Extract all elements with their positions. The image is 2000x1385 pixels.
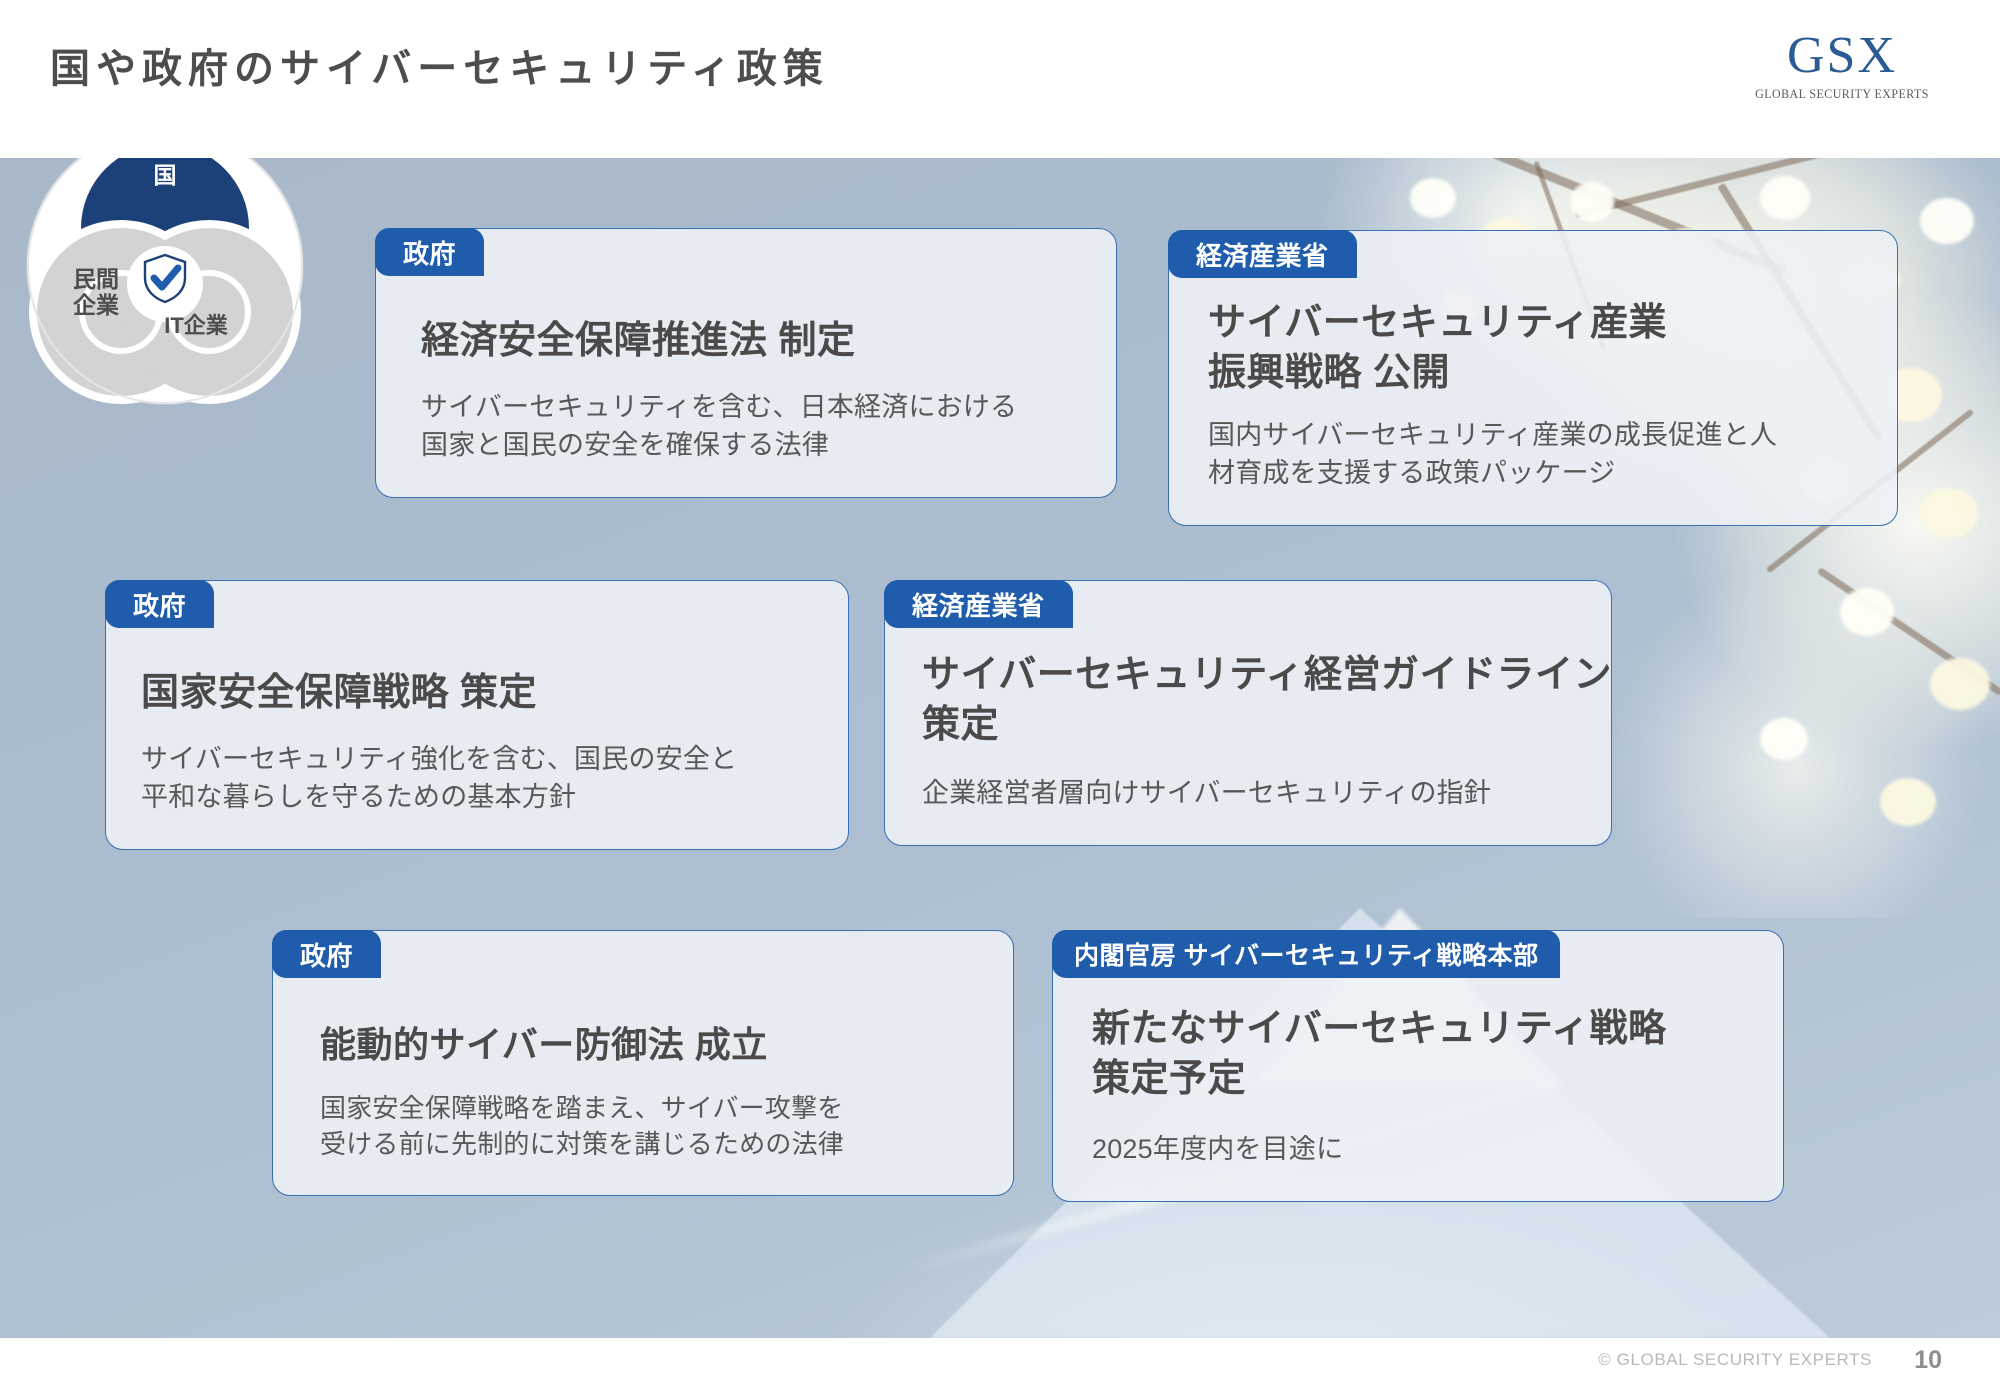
blossom-petal [1570,182,1614,222]
gsx-wordmark: GSX [1742,30,1942,82]
shield-check-icon [141,252,189,304]
card-description: 2025年度内を目途に [1092,1130,1784,1168]
policy-card[interactable]: 政府 能動的サイバー防御法 成立 国家安全保障戦略を踏まえ、サイバー攻撃を 受け… [272,930,1014,1196]
card-title: サイバーセキュリティ産業 振興戦略 公開 [1208,298,1898,398]
venn-label-private-companies: 民間 企業 [51,266,141,318]
blossom-petal [1760,176,1810,220]
venn-label-it-companies: IT企業 [141,313,251,339]
page-number: 10 [1914,1346,1942,1375]
copyright-text: © GLOBAL SECURITY EXPERTS [1598,1350,1872,1370]
slide-footer: © GLOBAL SECURITY EXPERTS 10 [0,1338,2000,1385]
card-content: 新たなサイバーセキュリティ戦略 策定予定 2025年度内を目途に [1052,978,1784,1202]
venn-label-nation: 国 [123,162,207,188]
policy-card[interactable]: 政府 国家安全保障戦略 策定 サイバーセキュリティ強化を含む、国民の安全と 平和… [105,580,849,850]
card-content: サイバーセキュリティ経営ガイドライン 策定 企業経営者層向けサイバーセキュリティ… [884,628,1612,846]
blossom-petal [1920,488,1978,538]
slide: 国や政府のサイバーセキュリティ政策 GSX GLOBAL SECURITY EX… [0,0,2000,1385]
card-title: 新たなサイバーセキュリティ戦略 策定予定 [1092,1004,1784,1104]
blossom-petal [1880,778,1936,826]
policy-card[interactable]: 経済産業省 サイバーセキュリティ経営ガイドライン 策定 企業経営者層向けサイバー… [884,580,1612,846]
gsx-tagline: GLOBAL SECURITY EXPERTS [1750,86,1934,102]
card-tab-label: 政府 [272,930,381,978]
blossom-petal [1930,658,1990,710]
card-title: 経済安全保障推進法 制定 [421,316,1117,366]
policy-card[interactable]: 内閣官房 サイバーセキュリティ戦略本部 新たなサイバーセキュリティ戦略 策定予定… [1052,930,1784,1202]
card-tab-label: 経済産業省 [884,580,1073,628]
blossom-petal [1840,588,1894,636]
card-content: サイバーセキュリティ産業 振興戦略 公開 国内サイバーセキュリティ産業の成長促進… [1168,278,1898,526]
card-tab-label: 政府 [105,580,214,628]
card-content: 国家安全保障戦略 策定 サイバーセキュリティ強化を含む、国民の安全と 平和な暮ら… [105,628,849,850]
card-title: 国家安全保障戦略 策定 [141,668,849,718]
blossom-petal [1410,178,1456,218]
card-description: 企業経営者層向けサイバーセキュリティの指針 [922,774,1612,812]
venn-diagram: 国 民間 企業 IT企業 [27,128,303,404]
card-description: サイバーセキュリティを含む、日本経済における 国家と国民の安全を確保する法律 [421,388,1117,464]
page-title: 国や政府のサイバーセキュリティ政策 [50,36,829,94]
card-tab-label: 内閣官房 サイバーセキュリティ戦略本部 [1052,930,1560,978]
slide-header: 国や政府のサイバーセキュリティ政策 GSX GLOBAL SECURITY EX… [0,0,2000,158]
card-description: サイバーセキュリティ強化を含む、国民の安全と 平和な暮らしを守るための基本方針 [141,740,849,816]
blossom-petal [1760,718,1808,760]
card-description: 国内サイバーセキュリティ産業の成長促進と人 材育成を支援する政策パッケージ [1208,416,1898,492]
card-tab-label: 経済産業省 [1168,230,1357,278]
blossom-petal [1920,198,1974,244]
card-tab-label: 政府 [375,228,484,276]
card-title: サイバーセキュリティ経営ガイドライン 策定 [922,650,1612,750]
policy-card[interactable]: 政府 経済安全保障推進法 制定 サイバーセキュリティを含む、日本経済における 国… [375,228,1117,498]
policy-card[interactable]: 経済産業省 サイバーセキュリティ産業 振興戦略 公開 国内サイバーセキュリティ産… [1168,230,1898,526]
gsx-logo: GSX GLOBAL SECURITY EXPERTS [1742,30,1942,102]
card-content: 経済安全保障推進法 制定 サイバーセキュリティを含む、日本経済における 国家と国… [375,276,1117,498]
card-content: 能動的サイバー防御法 成立 国家安全保障戦略を踏まえ、サイバー攻撃を 受ける前に… [272,978,1014,1196]
card-description: 国家安全保障戦略を踏まえ、サイバー攻撃を 受ける前に先制的に対策を講じるための法… [320,1090,1014,1162]
card-title: 能動的サイバー防御法 成立 [320,1020,1014,1070]
